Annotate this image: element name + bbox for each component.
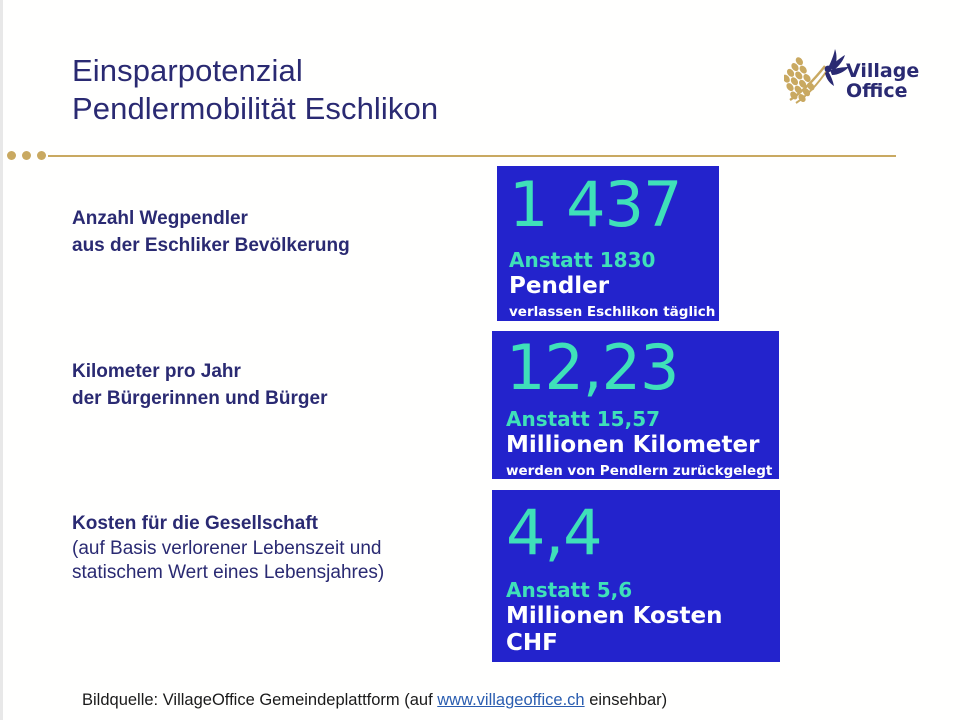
stat-baseline: Anstatt 5,6 [506,578,768,602]
stat-caption: verlassen Eschlikon täglich [509,304,715,321]
stat-baseline: Anstatt 1830 [509,248,707,272]
row-label-line-2: aus der Eschliker Bevölkerung [72,232,350,259]
stat-card-kilometer: 12,23 Anstatt 15,57 Millionen Kilometer … [492,331,779,479]
page-title: Einsparpotenzial Pendlermobilität Eschli… [72,52,692,128]
stat-card-pendler: 1 437 Anstatt 1830 Pendler verlassen Esc… [497,166,719,321]
row-label-line-1: Anzahl Wegpendler [72,205,350,232]
stat-unit: Millionen Kosten CHF [506,603,768,657]
stat-caption: werden durchs Pendeln verursacht [506,661,772,678]
dot-1 [7,151,16,160]
row-label-line-3: statischem Wert eines Lebensjahres) [72,561,384,585]
header-divider-line [48,155,896,157]
stat-value: 12,23 [506,337,767,399]
page-title-line-2: Pendlermobilität Eschlikon [72,90,692,128]
logo-wordmark: Village Office [846,62,919,101]
stat-card-kosten: 4,4 Anstatt 5,6 Millionen Kosten CHF wer… [492,490,780,662]
stat-caption-row: verlassen Eschlikon täglich ? [509,304,707,321]
stat-caption-row: werden durchs Pendeln verursacht ? [506,661,768,678]
row-label-line-2: (auf Basis verlorener Lebenszeit und [72,537,384,561]
villageoffice-logo: Village Office [784,48,908,110]
logo-wordmark-line-2: Office [846,82,919,101]
logo-wordmark-line-1: Village [846,60,919,82]
question-circle-icon[interactable]: ? [779,661,796,678]
slide-left-border [0,0,3,720]
stat-value: 1 437 [509,174,707,236]
slide-canvas: Einsparpotenzial Pendlermobilität Eschli… [0,0,960,720]
row-label-kilometer: Kilometer pro Jahr der Bürgerinnen und B… [72,358,327,412]
row-label-line-1: Kilometer pro Jahr [72,358,327,385]
row-label-line-1: Kosten für die Gesellschaft [72,510,384,537]
villageoffice-link[interactable]: www.villageoffice.ch [437,691,584,709]
stat-unit: Millionen Kilometer [506,432,767,459]
row-label-wegpendler: Anzahl Wegpendler aus der Eschliker Bevö… [72,205,350,259]
decorative-dots [7,151,49,163]
stat-baseline: Anstatt 15,57 [506,407,767,431]
source-prefix: Bildquelle: VillageOffice Gemeindeplattf… [82,691,437,709]
stat-caption: werden von Pendlern zurückgelegt [506,463,772,480]
stat-unit: Pendler [509,273,707,300]
image-source-note: Bildquelle: VillageOffice Gemeindeplattf… [82,690,667,710]
dot-2 [22,151,31,160]
stat-value: 4,4 [506,502,768,564]
question-circle-icon[interactable]: ? [779,463,796,480]
source-suffix: einsehbar) [585,691,668,709]
row-label-kosten: Kosten für die Gesellschaft (auf Basis v… [72,510,384,585]
dot-3 [37,151,46,160]
logo-wheat-fan-icon [784,48,850,106]
stat-caption-row: werden von Pendlern zurückgelegt ? [506,463,767,480]
row-label-line-2: der Bürgerinnen und Bürger [72,385,327,412]
page-title-line-1: Einsparpotenzial [72,52,692,90]
question-circle-icon[interactable]: ? [722,304,739,321]
